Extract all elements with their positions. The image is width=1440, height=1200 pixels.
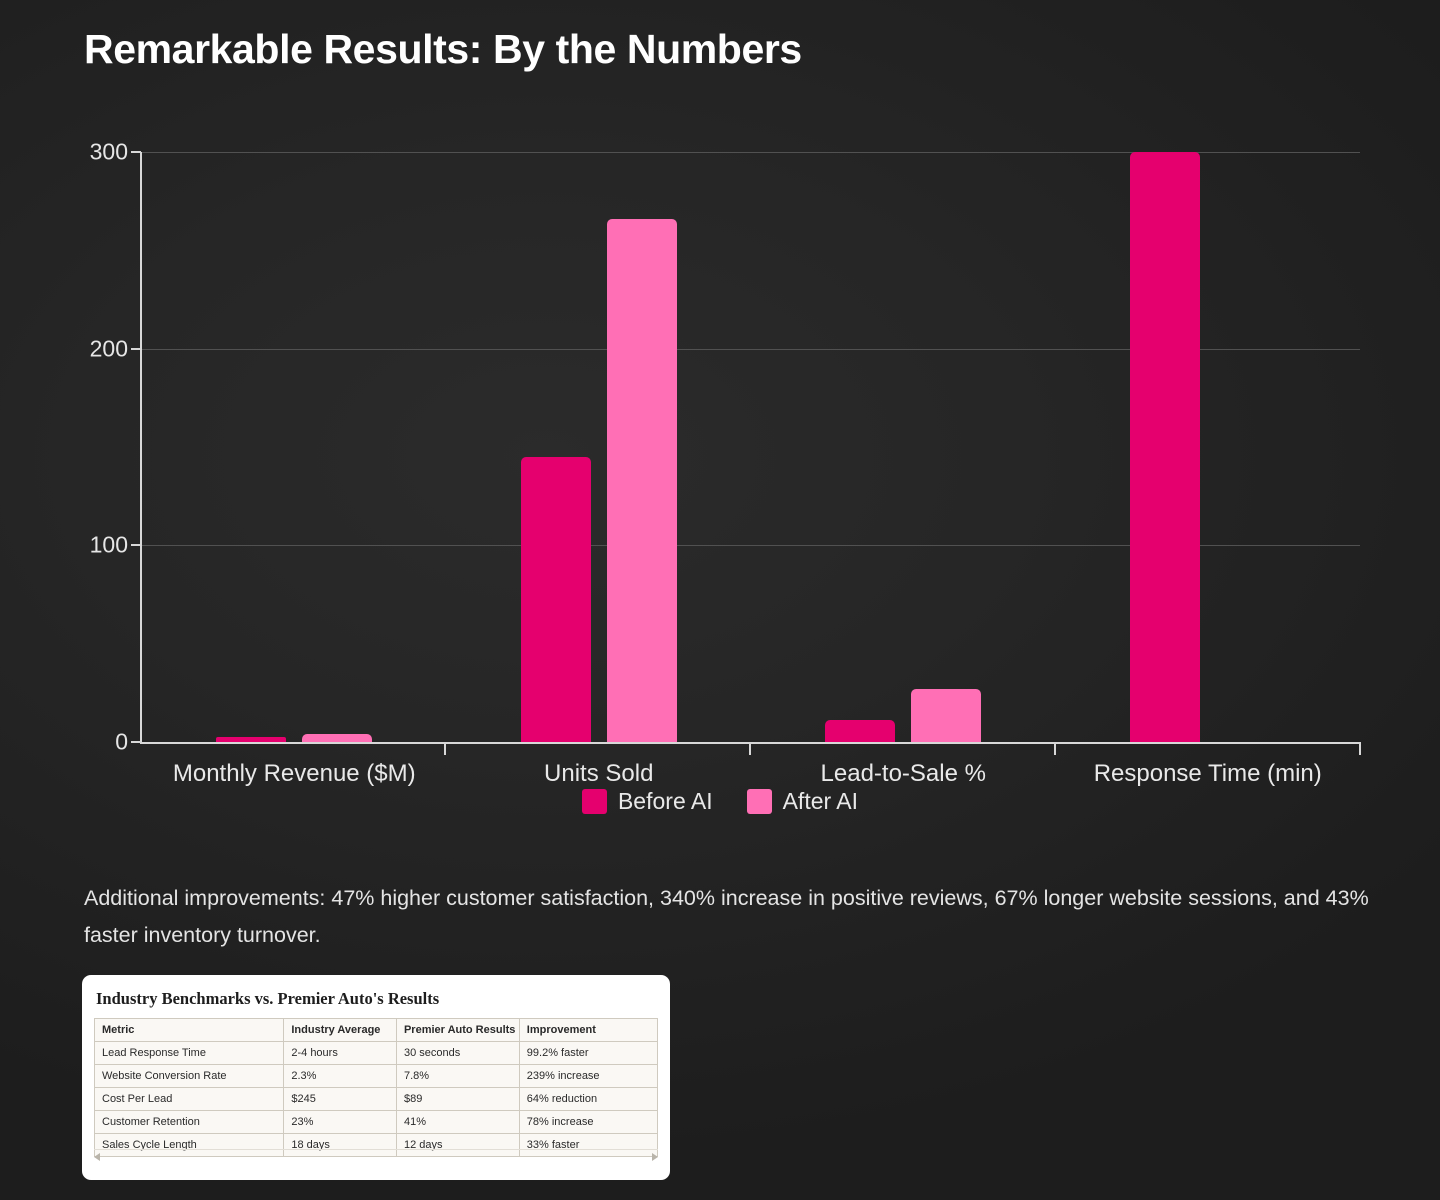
bar-group	[142, 152, 447, 742]
x-axis-tick-label: Lead-to-Sale %	[751, 760, 1056, 788]
table-cell: $89	[396, 1088, 519, 1111]
table-row: Website Conversion Rate2.3%7.8%239% incr…	[95, 1065, 658, 1088]
x-axis-tick-mark	[749, 742, 751, 755]
table-column-header: Industry Average	[284, 1019, 397, 1042]
bar-after-ai[interactable]	[302, 734, 372, 742]
x-axis-tick-label: Response Time (min)	[1056, 760, 1361, 788]
table-row: Cost Per Lead$245$8964% reduction	[95, 1088, 658, 1111]
table-cell: 23%	[284, 1111, 397, 1134]
legend-swatch	[582, 789, 607, 814]
bar-chart: 0100200300 Monthly Revenue ($M)Units Sol…	[0, 130, 1440, 820]
bar-before-ai[interactable]	[216, 737, 286, 743]
legend-label: Before AI	[618, 788, 713, 815]
table-cell: 2-4 hours	[284, 1042, 397, 1065]
legend-item-after-ai[interactable]: After AI	[747, 788, 858, 815]
page-title: Remarkable Results: By the Numbers	[84, 26, 802, 73]
table-cell: 7.8%	[396, 1065, 519, 1088]
y-axis-tick-label: 0	[115, 729, 128, 756]
y-axis-tick-label: 200	[90, 335, 128, 362]
x-axis-tick-mark	[1054, 742, 1056, 755]
bar-group	[1056, 152, 1361, 742]
scroll-right-arrow-icon[interactable]	[652, 1153, 658, 1161]
table-cell: Cost Per Lead	[95, 1088, 284, 1111]
table-cell: $245	[284, 1088, 397, 1111]
additional-improvements-note: Additional improvements: 47% higher cust…	[84, 880, 1374, 954]
benchmark-table: MetricIndustry AveragePremier Auto Resul…	[94, 1018, 658, 1157]
x-axis-tick-label: Monthly Revenue ($M)	[142, 760, 447, 788]
table-column-header: Metric	[95, 1019, 284, 1042]
table-cell: Customer Retention	[95, 1111, 284, 1134]
legend-item-before-ai[interactable]: Before AI	[582, 788, 713, 815]
bar-group	[447, 152, 752, 742]
bar-group	[751, 152, 1056, 742]
table-row: Lead Response Time2-4 hours30 seconds99.…	[95, 1042, 658, 1065]
bar-after-ai[interactable]	[607, 219, 677, 742]
x-axis-tick-label: Units Sold	[447, 760, 752, 788]
benchmark-table-card: Industry Benchmarks vs. Premier Auto's R…	[82, 975, 670, 1180]
benchmark-table-title: Industry Benchmarks vs. Premier Auto's R…	[94, 985, 658, 1018]
table-cell: 41%	[396, 1111, 519, 1134]
bar-before-ai[interactable]	[1130, 152, 1200, 742]
table-cell: Website Conversion Rate	[95, 1065, 284, 1088]
table-cell: 30 seconds	[396, 1042, 519, 1065]
table-cell: 78% increase	[519, 1111, 657, 1134]
table-header-row: MetricIndustry AveragePremier Auto Resul…	[95, 1019, 658, 1042]
table-cell: 2.3%	[284, 1065, 397, 1088]
bar-before-ai[interactable]	[521, 457, 591, 742]
table-horizontal-scrollbar[interactable]	[94, 1149, 658, 1162]
table-cell: 99.2% faster	[519, 1042, 657, 1065]
chart-legend: Before AIAfter AI	[0, 788, 1440, 815]
x-axis-tick-mark	[1359, 742, 1361, 755]
bar-before-ai[interactable]	[825, 720, 895, 742]
table-row: Customer Retention23%41%78% increase	[95, 1111, 658, 1134]
table-column-header: Improvement	[519, 1019, 657, 1042]
scroll-left-arrow-icon[interactable]	[94, 1153, 100, 1161]
table-cell: Lead Response Time	[95, 1042, 284, 1065]
x-axis-labels: Monthly Revenue ($M)Units SoldLead-to-Sa…	[142, 760, 1360, 788]
bar-after-ai[interactable]	[911, 689, 981, 742]
y-axis-tick-label: 300	[90, 139, 128, 166]
legend-label: After AI	[783, 788, 858, 815]
y-axis-tick-label: 100	[90, 532, 128, 559]
table-column-header: Premier Auto Results	[396, 1019, 519, 1042]
table-cell: 239% increase	[519, 1065, 657, 1088]
table-cell: 64% reduction	[519, 1088, 657, 1111]
bar-groups	[142, 152, 1360, 742]
legend-swatch	[747, 789, 772, 814]
x-axis-tick-mark	[444, 742, 446, 755]
